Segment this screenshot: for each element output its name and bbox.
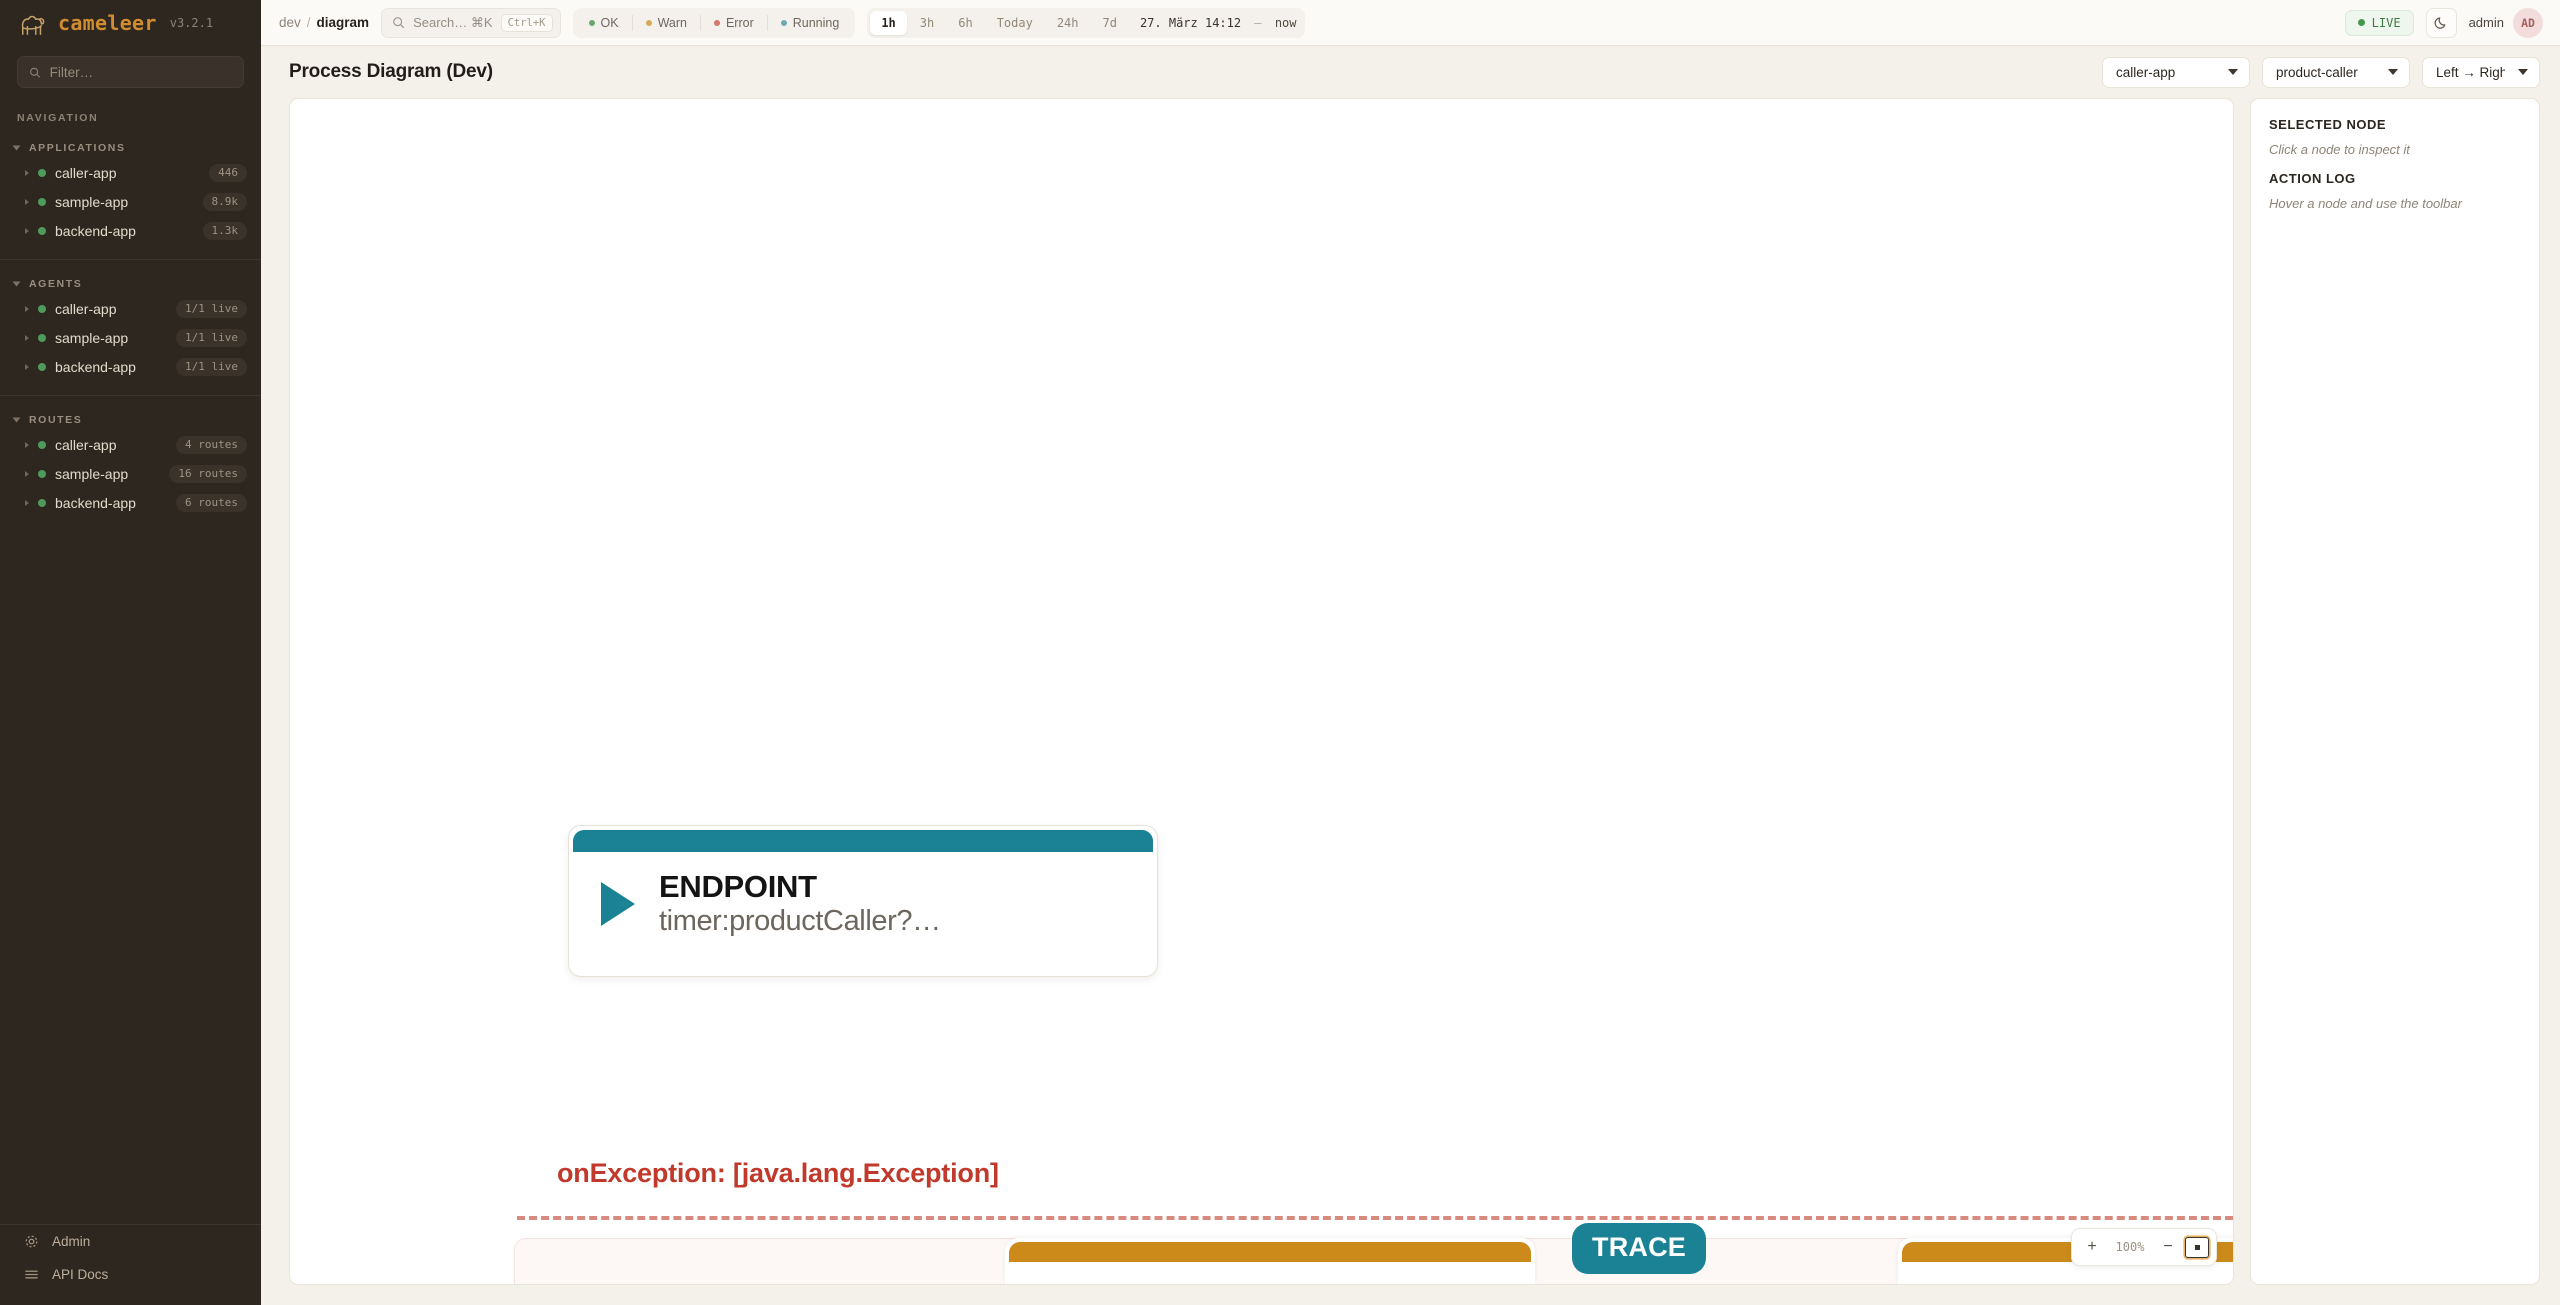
- chevron-right-icon: [25, 442, 29, 448]
- status-pill-label: Warn: [658, 16, 687, 30]
- page-title: Process Diagram (Dev): [289, 61, 493, 83]
- chevron-right-icon: [25, 364, 29, 370]
- sidebar-item-badge: 1.3k: [203, 222, 248, 240]
- sidebar-item-admin[interactable]: Admin: [0, 1225, 261, 1258]
- breadcrumb-separator: /: [307, 15, 311, 30]
- page-body: ENDPOINT timer:productCaller?… onExcepti…: [261, 98, 2560, 1305]
- status-dot: [38, 169, 46, 177]
- selected-node-empty-text: Click a node to inspect it: [2269, 142, 2521, 157]
- sidebar-item-api-docs[interactable]: API Docs: [0, 1258, 261, 1291]
- sidebar-item-badge: 16 routes: [169, 465, 247, 483]
- live-indicator[interactable]: LIVE: [2345, 10, 2414, 36]
- search-shortcut: Ctrl+K: [501, 14, 553, 32]
- node-kind-label: ENDPOINT: [659, 870, 941, 905]
- time-range-group: 1h 3h 6h Today 24h 7d 27. März 14:12 — n…: [867, 8, 1304, 38]
- breadcrumb-parent[interactable]: dev: [279, 15, 301, 30]
- theme-toggle-button[interactable]: [2426, 8, 2457, 38]
- sidebar-item-label: caller-app: [55, 437, 167, 453]
- status-filter-group: OK Warn Error Running: [573, 8, 856, 38]
- sidebar-filter-input[interactable]: [50, 65, 232, 80]
- route-select-wrap: product-caller: [2262, 57, 2410, 88]
- time-range-readout[interactable]: 27. März 14:12 — now: [1140, 16, 1297, 30]
- sidebar-item-routes-backend-app[interactable]: backend-app 6 routes: [0, 488, 261, 517]
- zoom-out-button[interactable]: −: [2155, 1234, 2181, 1260]
- diagram-canvas[interactable]: ENDPOINT timer:productCaller?… onExcepti…: [289, 98, 2234, 1285]
- fit-center-dot-icon: [2195, 1245, 2200, 1250]
- selected-node-heading: SELECTED NODE: [2269, 117, 2521, 132]
- node-texts: ENDPOINT timer:productCaller?…: [659, 870, 941, 938]
- breadcrumb-current: diagram: [317, 15, 370, 30]
- time-range-6h[interactable]: 6h: [947, 11, 983, 35]
- chevron-right-icon: [25, 500, 29, 506]
- sidebar-item-applications-backend-app[interactable]: backend-app 1.3k: [0, 216, 261, 245]
- sidebar-item-routes-sample-app[interactable]: sample-app 16 routes: [0, 459, 261, 488]
- zoom-level: 100%: [2109, 1240, 2151, 1254]
- main-column: dev / diagram Search… ⌘K Ctrl+K OK: [261, 0, 2560, 1305]
- sidebar-item-badge: 446: [209, 164, 247, 182]
- node-uri-label: timer:productCaller?…: [659, 905, 941, 938]
- chevron-right-icon: [25, 228, 29, 234]
- status-pill-running[interactable]: Running: [768, 15, 853, 31]
- chevron-down-icon: [13, 282, 21, 287]
- trace-badge[interactable]: TRACE: [1572, 1223, 1706, 1274]
- sidebar-item-label: caller-app: [55, 165, 200, 181]
- status-dot: [38, 305, 46, 313]
- group-header-applications[interactable]: APPLICATIONS: [0, 138, 261, 158]
- group-label-applications: APPLICATIONS: [29, 142, 126, 154]
- exception-label: onException: [java.lang.Exception]: [557, 1158, 999, 1189]
- app-root: cameleer v3.2.1 NAVIGATION APPLICATIONS: [0, 0, 2560, 1305]
- group-label-agents: AGENTS: [29, 278, 82, 290]
- direction-select-wrap: Left → Right: [2422, 57, 2540, 88]
- status-dot-error: [714, 20, 720, 26]
- breadcrumb: dev / diagram: [279, 15, 369, 30]
- exception-divider: [517, 1216, 2233, 1220]
- brand-version: v3.2.1: [170, 16, 213, 30]
- fit-to-screen-button[interactable]: [2185, 1237, 2209, 1258]
- node-accent-bar: [573, 830, 1153, 852]
- sidebar-group-agents: AGENTS caller-app 1/1 live sample-app 1/…: [0, 260, 261, 381]
- search-placeholder: Search… ⌘K: [413, 15, 492, 31]
- sidebar-filter-wrap: [0, 46, 261, 88]
- avatar: AD: [2513, 8, 2543, 38]
- application-select-wrap: caller-app: [2102, 57, 2250, 88]
- sidebar-item-agents-sample-app[interactable]: sample-app 1/1 live: [0, 323, 261, 352]
- status-dot: [38, 441, 46, 449]
- sidebar-item-badge: 6 routes: [176, 494, 247, 512]
- sidebar-item-badge: 1/1 live: [176, 358, 247, 376]
- sidebar-item-label: caller-app: [55, 301, 167, 317]
- status-pill-label: Error: [726, 16, 754, 30]
- brand[interactable]: cameleer v3.2.1: [0, 0, 261, 46]
- node-accent-bar: [1009, 1242, 1531, 1262]
- status-dot-running: [781, 20, 787, 26]
- navigation-heading: NAVIGATION: [0, 88, 261, 124]
- inspector-panel: SELECTED NODE Click a node to inspect it…: [2250, 98, 2540, 1285]
- chevron-right-icon: [25, 170, 29, 176]
- live-label: LIVE: [2372, 16, 2401, 30]
- sidebar: cameleer v3.2.1 NAVIGATION APPLICATIONS: [0, 0, 261, 1305]
- sidebar-item-label: backend-app: [55, 495, 167, 511]
- status-dot: [38, 334, 46, 342]
- sidebar-item-label: sample-app: [55, 330, 167, 346]
- status-dot: [38, 198, 46, 206]
- sidebar-footer-label: API Docs: [52, 1267, 108, 1282]
- sidebar-footer-label: Admin: [52, 1234, 90, 1249]
- status-dot: [38, 470, 46, 478]
- status-pill-ok[interactable]: OK: [576, 15, 633, 31]
- sidebar-item-label: sample-app: [55, 466, 160, 482]
- sidebar-item-badge: 1/1 live: [176, 300, 247, 318]
- sidebar-item-badge: 4 routes: [176, 436, 247, 454]
- topbar: dev / diagram Search… ⌘K Ctrl+K OK: [261, 0, 2560, 46]
- sidebar-group-applications: APPLICATIONS caller-app 446 sample-app 8…: [0, 124, 261, 245]
- application-select[interactable]: caller-app: [2102, 57, 2250, 88]
- direction-select[interactable]: Left → Right: [2422, 57, 2540, 88]
- sidebar-item-label: backend-app: [55, 359, 167, 375]
- gear-icon: [24, 1234, 39, 1249]
- user-name: admin: [2469, 15, 2504, 30]
- live-dot-icon: [2358, 19, 2365, 26]
- sidebar-item-applications-caller-app[interactable]: caller-app 446: [0, 158, 261, 187]
- global-search[interactable]: Search… ⌘K Ctrl+K: [381, 8, 560, 38]
- zoom-in-button[interactable]: +: [2079, 1234, 2105, 1260]
- time-range-24h[interactable]: 24h: [1046, 11, 1090, 35]
- time-range-3h[interactable]: 3h: [909, 11, 945, 35]
- sidebar-item-label: sample-app: [55, 194, 194, 210]
- sidebar-item-label: backend-app: [55, 223, 194, 239]
- time-range-7d[interactable]: 7d: [1092, 11, 1128, 35]
- node-body: ENDPOINT timer:productCaller?…: [569, 852, 1157, 938]
- group-label-routes: ROUTES: [29, 414, 82, 426]
- status-dot-warn: [646, 20, 652, 26]
- group-header-agents[interactable]: AGENTS: [0, 274, 261, 294]
- status-pill-warn[interactable]: Warn: [633, 15, 701, 31]
- group-header-routes[interactable]: ROUTES: [0, 410, 261, 430]
- time-range-to: now: [1275, 16, 1297, 30]
- camel-logo-icon: [18, 9, 48, 37]
- sidebar-item-agents-backend-app[interactable]: backend-app 1/1 live: [0, 352, 261, 381]
- chevron-right-icon: [25, 199, 29, 205]
- zoom-controls: + 100% −: [2071, 1228, 2217, 1266]
- action-log-heading: ACTION LOG: [2269, 171, 2521, 186]
- diagram-node-endpoint[interactable]: ENDPOINT timer:productCaller?…: [568, 825, 1158, 977]
- chevron-right-icon: [25, 306, 29, 312]
- chevron-down-icon: [13, 146, 21, 151]
- sidebar-item-applications-sample-app[interactable]: sample-app 8.9k: [0, 187, 261, 216]
- sidebar-filter[interactable]: [17, 56, 244, 88]
- page-header: Process Diagram (Dev) caller-app product…: [261, 46, 2560, 98]
- sidebar-item-agents-caller-app[interactable]: caller-app 1/1 live: [0, 294, 261, 323]
- moon-icon: [2434, 15, 2449, 30]
- chevron-down-icon: [13, 418, 21, 423]
- time-range-today[interactable]: Today: [986, 11, 1044, 35]
- time-range-1h[interactable]: 1h: [870, 11, 906, 35]
- status-pill-label: Running: [793, 16, 840, 30]
- play-triangle-icon: [601, 882, 635, 926]
- search-icon: [392, 16, 405, 29]
- sidebar-item-routes-caller-app[interactable]: caller-app 4 routes: [0, 430, 261, 459]
- route-select[interactable]: product-caller: [2262, 57, 2410, 88]
- sidebar-group-routes: ROUTES caller-app 4 routes sample-app 16…: [0, 396, 261, 517]
- status-dot: [38, 363, 46, 371]
- sidebar-item-badge: 1/1 live: [176, 329, 247, 347]
- status-dot: [38, 227, 46, 235]
- time-range-from: 27. März 14:12: [1140, 16, 1241, 30]
- action-log-empty-text: Hover a node and use the toolbar: [2269, 196, 2521, 211]
- user-menu[interactable]: admin AD: [2469, 8, 2543, 38]
- time-range-dash: —: [1248, 16, 1267, 30]
- sidebar-footer: Admin API Docs: [0, 1210, 261, 1305]
- status-dot: [38, 499, 46, 507]
- chevron-right-icon: [25, 335, 29, 341]
- brand-name: cameleer: [58, 11, 157, 35]
- chevron-right-icon: [25, 471, 29, 477]
- menu-lines-icon: [24, 1267, 39, 1282]
- search-icon: [29, 66, 41, 79]
- sidebar-item-badge: 8.9k: [203, 193, 248, 211]
- status-pill-label: OK: [601, 16, 619, 30]
- status-pill-error[interactable]: Error: [701, 15, 768, 31]
- diagram-node-step-a[interactable]: [1005, 1238, 1535, 1284]
- status-dot-ok: [589, 20, 595, 26]
